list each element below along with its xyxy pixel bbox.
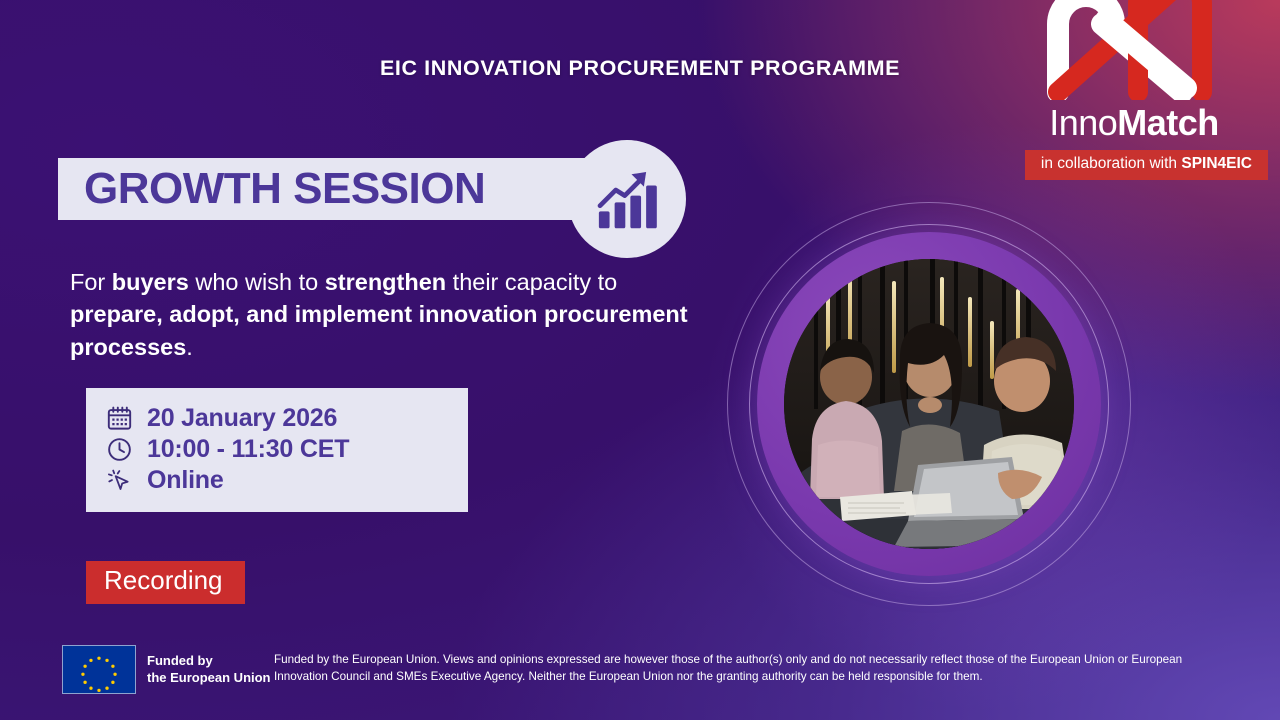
growth-chart-icon [568, 140, 686, 258]
eu-funding-block: Funded by the European Union [62, 645, 271, 694]
eu-funding-line1: Funded by [147, 653, 271, 670]
innomatch-wordmark: InnoMatch [1014, 102, 1254, 144]
eu-funding-text: Funded by the European Union [147, 653, 271, 686]
detail-location-label: Online [147, 466, 224, 495]
calendar-icon [104, 403, 134, 433]
description-segment-3: strengthen [325, 269, 446, 295]
clock-icon [104, 434, 134, 464]
description-segment-5: prepare, adopt, and implement innovation… [70, 301, 688, 359]
eu-flag-icon [62, 645, 136, 694]
description-segment-6: . [186, 334, 193, 360]
detail-row-time: 10:00 - 11:30 CET [104, 434, 450, 464]
session-title-bar: GROWTH SESSION [58, 158, 644, 220]
page-title: GROWTH SESSION [84, 167, 485, 211]
eu-funding-line2: the European Union [147, 670, 271, 687]
description-segment-4: their capacity to [446, 269, 617, 295]
description-segment-0: For [70, 269, 112, 295]
detail-time-label: 10:00 - 11:30 CET [147, 435, 349, 464]
session-details-box: 20 January 2026 10:00 - 11:30 CET Online [86, 388, 468, 512]
collaboration-badge: in collaboration with SPIN4EIC [1025, 150, 1268, 180]
innomatch-logo: InnoMatch [1014, 26, 1254, 144]
collab-prefix: in collaboration with [1041, 155, 1181, 172]
photo-image [784, 259, 1074, 549]
session-description: For buyers who wish to strengthen their … [70, 266, 695, 363]
cursor-click-icon [104, 465, 134, 495]
detail-date-label: 20 January 2026 [147, 404, 337, 433]
description-segment-1: buyers [112, 269, 189, 295]
innomatch-logo-mark [1014, 26, 1254, 100]
collab-partner: SPIN4EIC [1181, 155, 1252, 172]
logo-word-match: Match [1117, 102, 1219, 143]
logo-word-inno: Inno [1049, 102, 1117, 143]
session-photo [727, 202, 1131, 606]
detail-row-date: 20 January 2026 [104, 403, 450, 433]
detail-row-location: Online [104, 465, 450, 495]
recording-button[interactable]: Recording [86, 561, 245, 604]
funding-disclaimer: Funded by the European Union. Views and … [274, 652, 1224, 685]
description-segment-2: who wish to [189, 269, 325, 295]
